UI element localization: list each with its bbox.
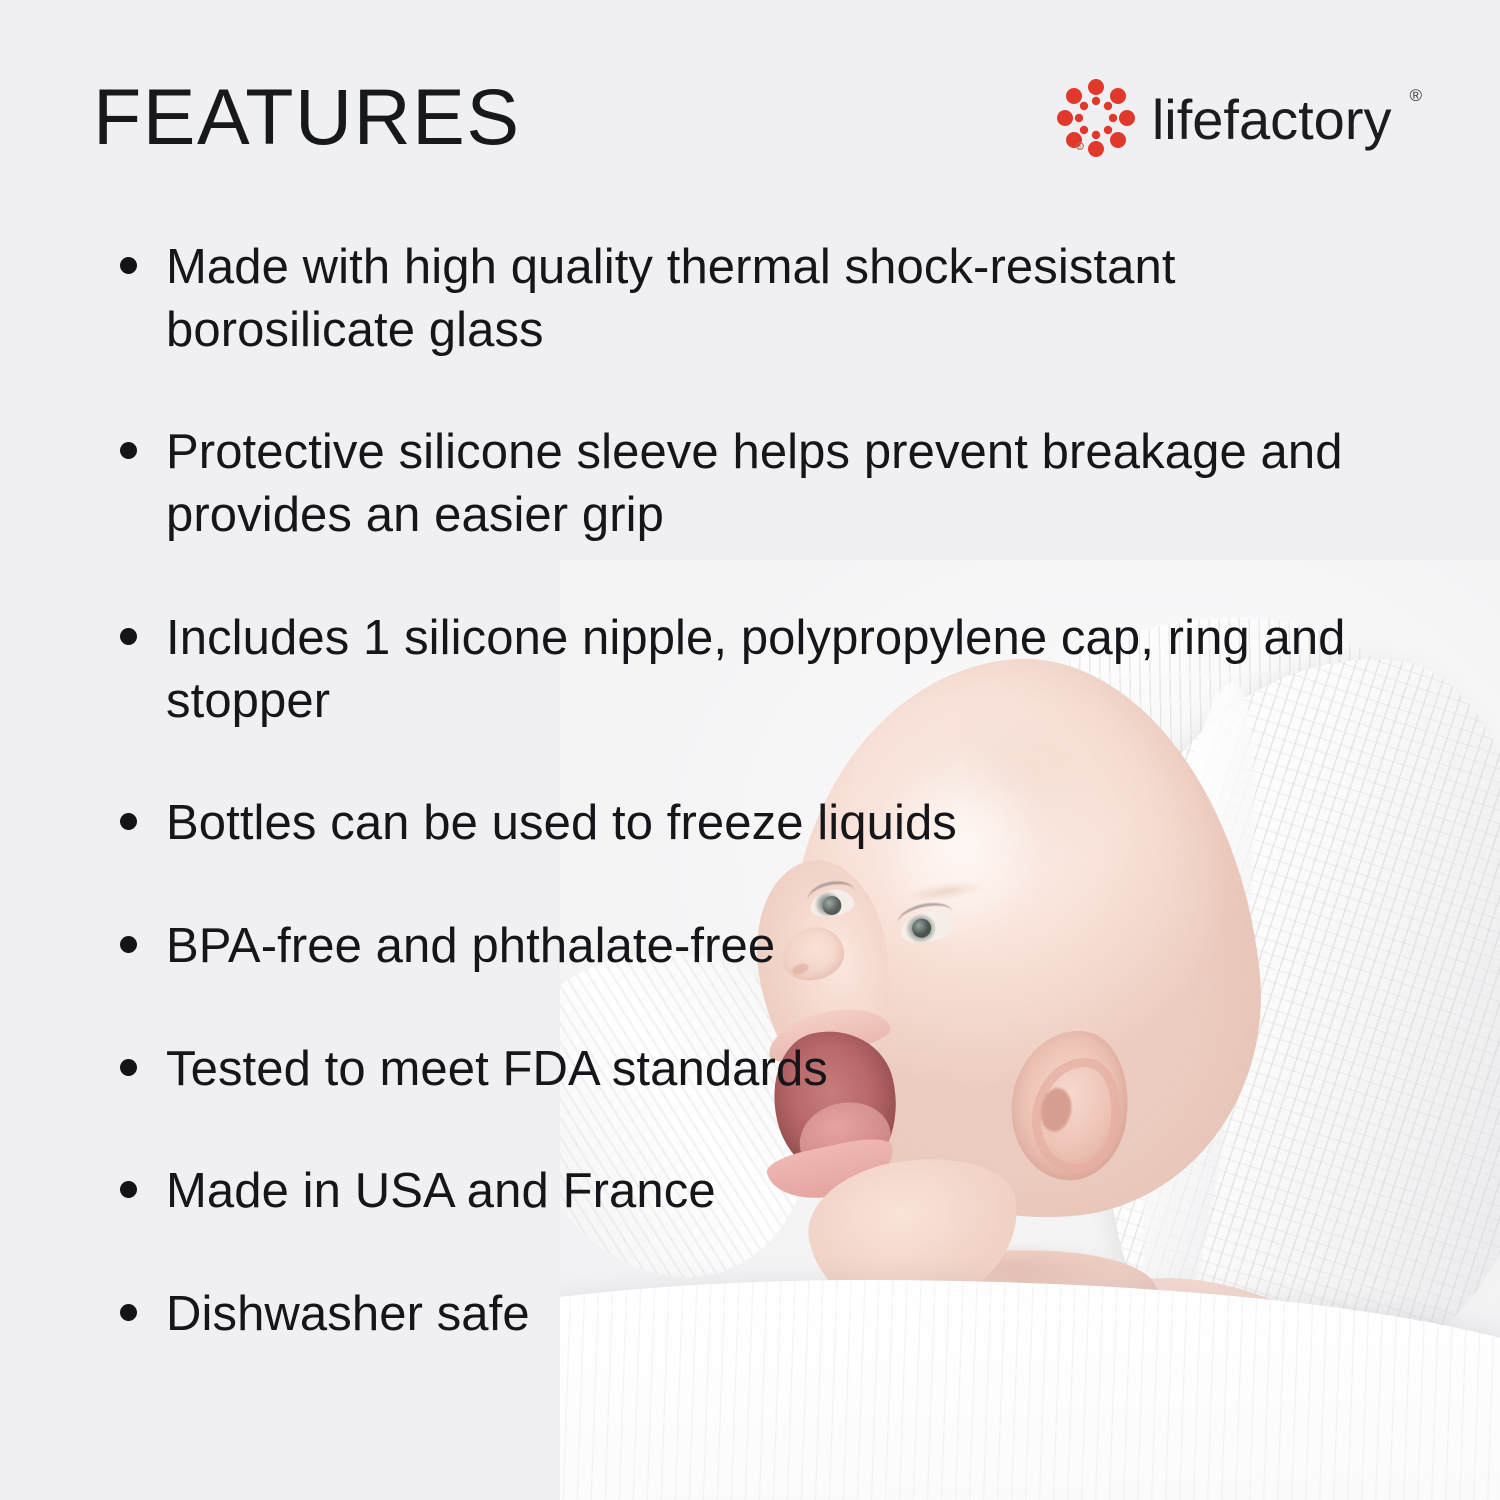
list-item: Bottles can be used to freeze liquids	[120, 792, 1410, 855]
feature-text: Bottles can be used to freeze liquids	[166, 792, 957, 855]
bullet-icon	[120, 936, 137, 953]
feature-text: Tested to meet FDA standards	[166, 1038, 828, 1101]
registered-trademark-mark: ®	[1409, 86, 1422, 106]
list-item: Made with high quality thermal shock-res…	[120, 236, 1410, 361]
list-item: BPA-free and phthalate-free	[120, 915, 1410, 978]
bullet-icon	[120, 1181, 137, 1198]
bullet-icon	[120, 257, 137, 274]
feature-text: Protective silicone sleeve helps prevent…	[166, 421, 1406, 546]
bullet-icon	[120, 1059, 137, 1076]
bullet-icon	[120, 628, 137, 645]
feature-text: BPA-free and phthalate-free	[166, 915, 775, 978]
content-layer: FEATURES	[0, 0, 1500, 1500]
feature-text: Made with high quality thermal shock-res…	[166, 236, 1406, 361]
features-list: Made with high quality thermal shock-res…	[120, 236, 1410, 1406]
feature-text: Includes 1 silicone nipple, polypropylen…	[166, 607, 1406, 732]
list-item: Protective silicone sleeve helps prevent…	[120, 421, 1410, 546]
bullet-icon	[120, 813, 137, 830]
lifefactory-logo: R lifefactory ®	[1056, 78, 1420, 158]
list-item: Tested to meet FDA standards	[120, 1038, 1410, 1101]
feature-text: Dishwasher safe	[166, 1283, 530, 1346]
page-title: FEATURES	[93, 77, 521, 156]
lifefactory-wordmark: lifefactory	[1152, 92, 1392, 148]
bullet-icon	[120, 442, 137, 459]
bullet-icon	[120, 1304, 137, 1321]
list-item: Includes 1 silicone nipple, polypropylen…	[120, 607, 1410, 732]
lifefactory-dot-ring-icon: R	[1056, 78, 1136, 158]
list-item: Dishwasher safe	[120, 1283, 1410, 1346]
feature-graphic-canvas: FEATURES	[0, 0, 1500, 1500]
list-item: Made in USA and France	[120, 1160, 1410, 1223]
feature-text: Made in USA and France	[166, 1160, 716, 1223]
